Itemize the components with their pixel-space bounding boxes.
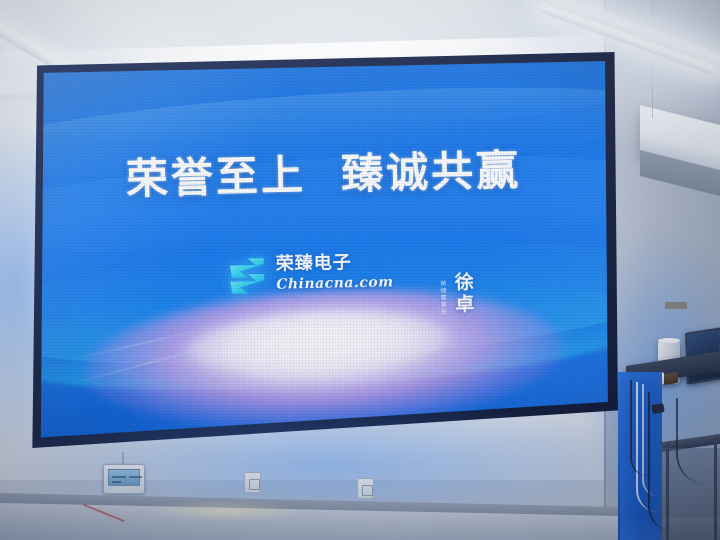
rongzhen-z-mark-icon (226, 252, 269, 297)
connector-plug (664, 372, 678, 385)
cable-bundle (676, 398, 706, 484)
power-outlet[interactable] (357, 478, 374, 499)
led-video-wall[interactable]: 荣誉至上 臻诚共赢 (30, 52, 618, 448)
company-domain: Chinacna.com (277, 276, 394, 292)
screen-panel[interactable]: 荣誉至上 臻诚共赢 (38, 60, 609, 439)
floor-reflection (150, 498, 300, 523)
power-outlet[interactable] (244, 472, 261, 493)
signature-name: 徐卓 (449, 272, 477, 317)
signature-title: 荣臻董事长 (437, 280, 447, 315)
company-name-cn: 荣臻电子 (276, 254, 394, 274)
cable-bundle (648, 392, 674, 532)
signature-block: 荣臻董事长 徐卓 (437, 272, 477, 317)
slide-headline: 荣誉至上 臻诚共赢 (38, 135, 609, 209)
cart-leg (714, 436, 717, 540)
wall-control-panel[interactable] (103, 464, 145, 494)
wall-sticker (665, 302, 687, 309)
logo-wordmark: 荣臻电子 Chinacna.com (276, 254, 394, 292)
slide-content: 荣誉至上 臻诚共赢 (38, 60, 609, 439)
cable-bundle (630, 380, 648, 476)
control-panel-lcd (108, 469, 140, 486)
photo-scene: 荣誉至上 臻诚共赢 (0, 0, 720, 540)
company-logo: 荣臻电子 Chinacna.com (226, 250, 394, 297)
wall-seam (652, 0, 653, 118)
